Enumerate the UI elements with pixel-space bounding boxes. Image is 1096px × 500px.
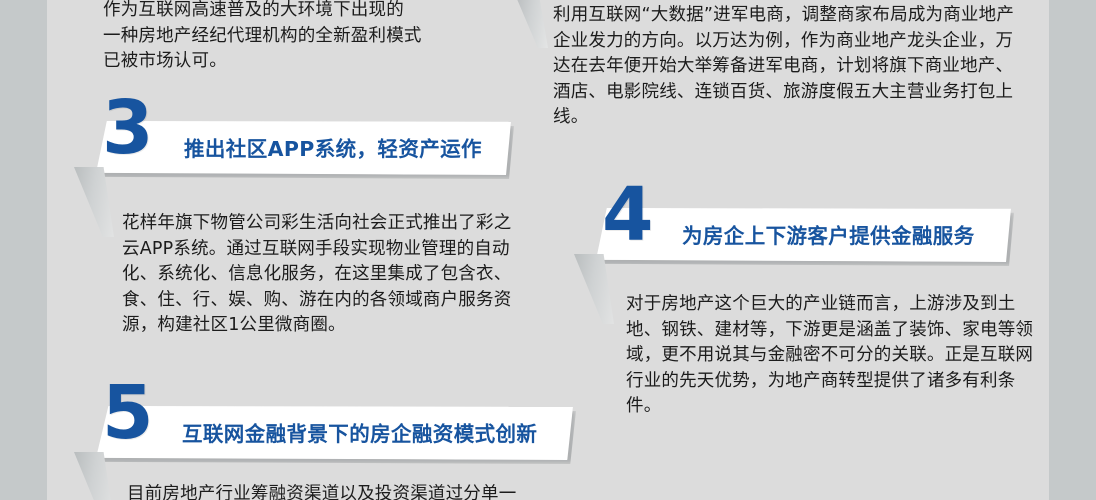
section-4-body: 对于房地产这个巨大的产业链而言，上游涉及到土地、钢铁、建材等，下游更是涵盖了装饰… bbox=[626, 292, 1046, 420]
ribbon-fold-icon bbox=[74, 167, 114, 237]
section-3-title: 推出社区APP系统，轻资产运作 bbox=[184, 122, 482, 176]
section-4-number: 4 bbox=[602, 178, 654, 252]
section-3-banner: 3 推出社区APP系统，轻资产运作 bbox=[96, 121, 511, 175]
section-2-body-right: 利用互联网“大数据”进军电商，调整商家布局成为商业地产企业发力的方向。以万达为例… bbox=[553, 3, 1023, 131]
section-4-banner: 4 为房企上下游客户提供金融服务 bbox=[596, 208, 1011, 262]
section-5-body: 目前房地产行业筹融资渠道以及投资渠道过分单一 bbox=[127, 482, 557, 500]
ribbon-fold-icon bbox=[574, 254, 614, 324]
section-4-title: 为房企上下游客户提供金融服务 bbox=[682, 209, 975, 263]
section-3-number: 3 bbox=[102, 91, 154, 165]
section-5-banner: 5 互联网金融背景下的房企融资模式创新 bbox=[96, 406, 573, 460]
section-5-title: 互联网金融背景下的房企融资模式创新 bbox=[182, 407, 537, 461]
section-3-body: 花样年旗下物管公司彩生活向社会正式推出了彩之云APP系统。通过互联网手段实现物业… bbox=[122, 211, 522, 339]
section-5-number: 5 bbox=[102, 376, 154, 450]
page-right-margin-band bbox=[1049, 0, 1096, 500]
section-2-body-left: 作为互联网高速普及的大环境下出现的 一种房地产经纪代理机构的全新盈利模式 已被市… bbox=[103, 0, 533, 75]
infographic-page: 作为互联网高速普及的大环境下出现的 一种房地产经纪代理机构的全新盈利模式 已被市… bbox=[0, 0, 1096, 500]
page-left-margin-band bbox=[0, 0, 47, 500]
